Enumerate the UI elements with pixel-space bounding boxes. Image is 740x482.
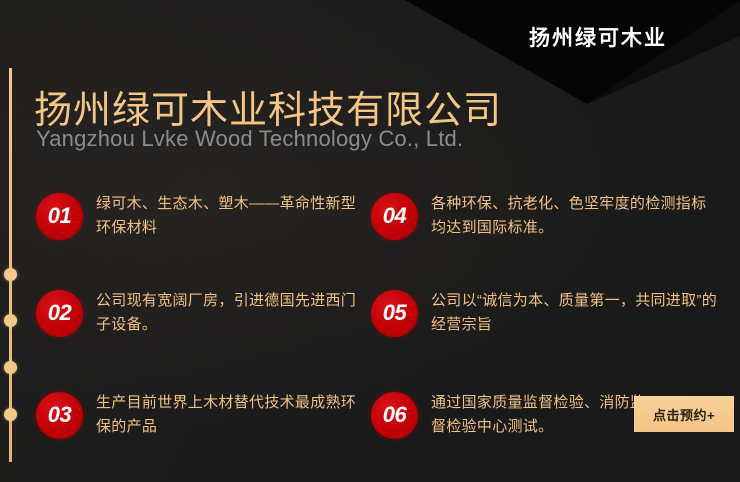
timeline-node (4, 361, 17, 374)
corner-banner-label: 扬州绿可木业 (498, 22, 698, 52)
timeline-node (4, 408, 17, 421)
feature-description: 绿可木、生态木、塑木——革命性新型环保材料 (96, 192, 366, 241)
feature-description: 各种环保、抗老化、色坚牢度的检测指标均达到国际标准。 (431, 192, 721, 241)
feature-number-badge: 05 (371, 290, 418, 337)
feature-number-badge: 06 (371, 392, 418, 439)
feature-item-02: 02 公司现有宽阔厂房，引进德国先进西门子设备。 (36, 289, 366, 338)
feature-description: 生产目前世界上木材替代技术最成熟环保的产品 (96, 391, 366, 440)
feature-description: 公司以“诚信为本、质量第一，共同进取”的经营宗旨 (431, 289, 721, 338)
feature-item-03: 03 生产目前世界上木材替代技术最成熟环保的产品 (36, 391, 366, 440)
feature-number-badge: 01 (36, 193, 83, 240)
timeline-node (4, 314, 17, 327)
promo-banner-root: 扬州绿可木业 扬州绿可木业科技有限公司 Yangzhou Lvke Wood T… (0, 0, 740, 482)
feature-item-01: 01 绿可木、生态木、塑木——革命性新型环保材料 (36, 192, 366, 241)
feature-item-05: 05 公司以“诚信为本、质量第一，共同进取”的经营宗旨 (371, 289, 721, 338)
feature-description: 通过国家质量监督检验、消防监督检验中心测试。 (431, 391, 651, 440)
timeline-rail (9, 68, 12, 462)
page-subtitle: Yangzhou Lvke Wood Technology Co., Ltd. (36, 126, 463, 152)
book-appointment-button[interactable]: 点击预约+ (634, 396, 734, 432)
feature-item-04: 04 各种环保、抗老化、色坚牢度的检测指标均达到国际标准。 (371, 192, 721, 241)
feature-number-badge: 03 (36, 392, 83, 439)
feature-description: 公司现有宽阔厂房，引进德国先进西门子设备。 (96, 289, 366, 338)
feature-number-badge: 04 (371, 193, 418, 240)
timeline-node (4, 268, 17, 281)
feature-item-06: 06 通过国家质量监督检验、消防监督检验中心测试。 (371, 391, 651, 440)
feature-number-badge: 02 (36, 290, 83, 337)
